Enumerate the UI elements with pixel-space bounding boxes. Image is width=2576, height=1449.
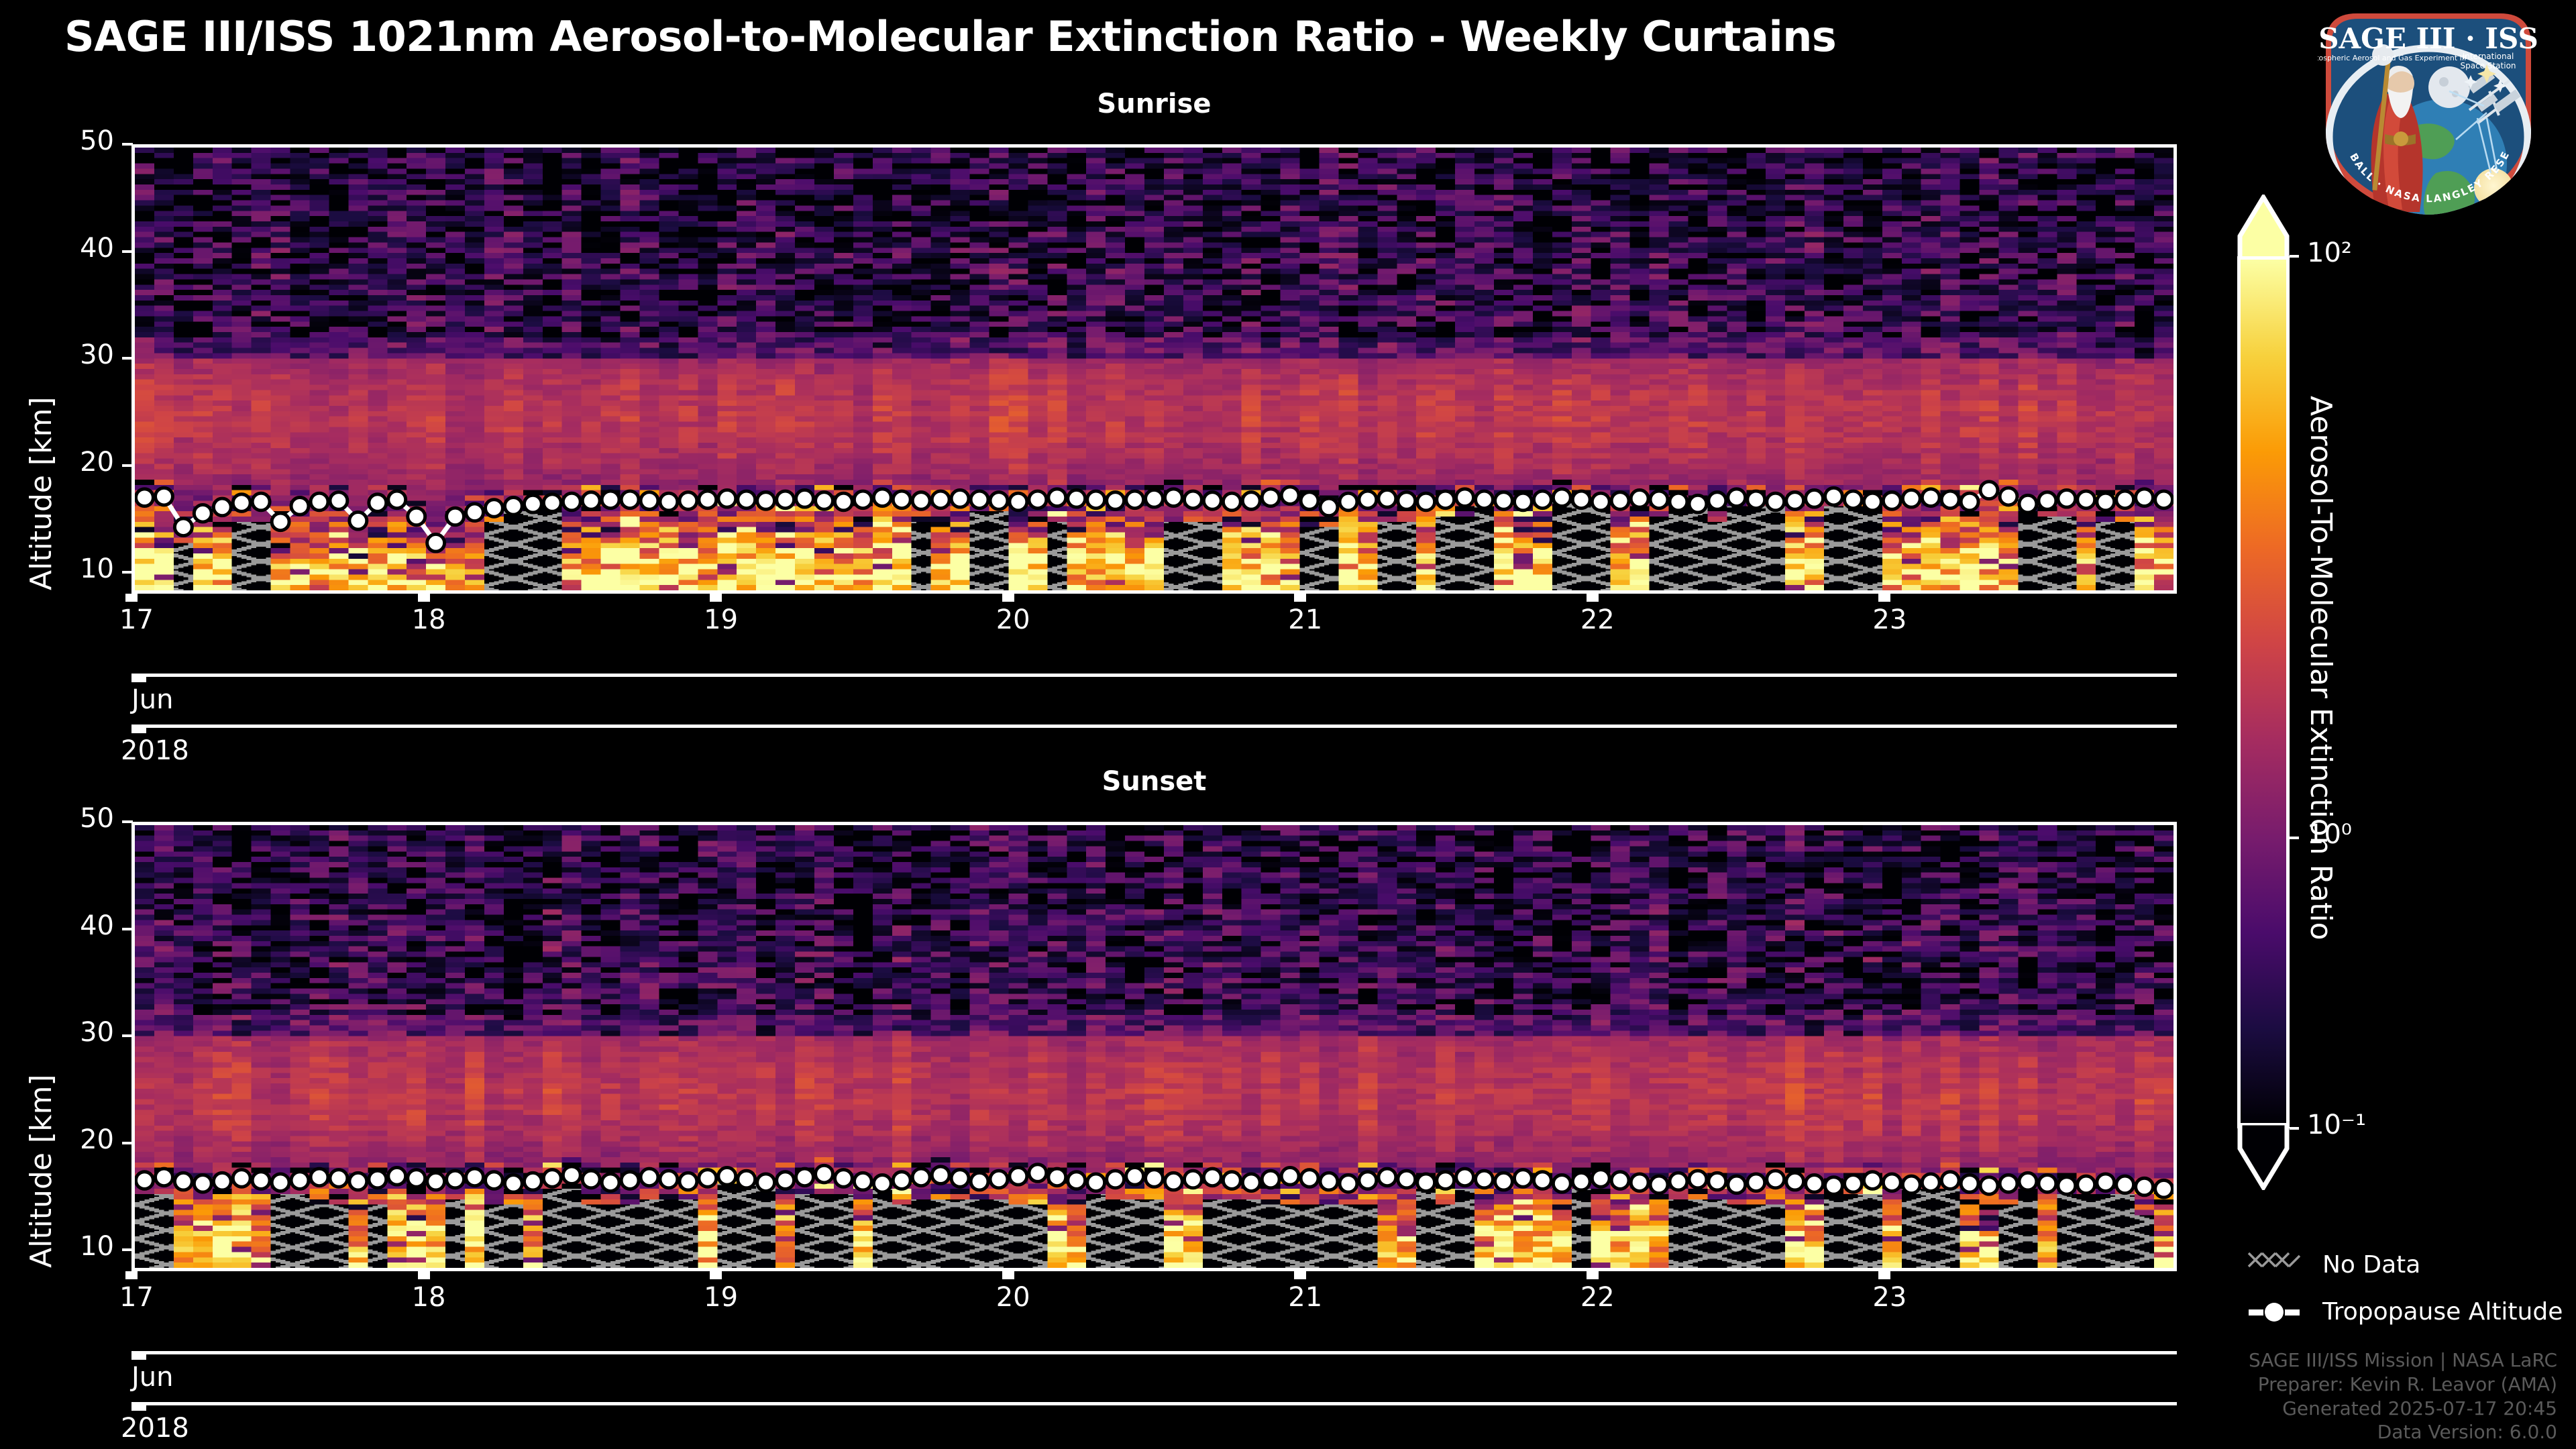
page-title: SAGE III/ISS 1021nm Aerosol-to-Molecular… xyxy=(64,12,1876,61)
x-tick-label-sunrise-2: 19 xyxy=(704,604,738,635)
x-tick-label-sunset-0: 17 xyxy=(119,1282,154,1313)
x-tick-mark-sunrise-0 xyxy=(125,594,138,602)
footer-line-generated: Generated 2025-07-17 20:45 xyxy=(2249,1397,2557,1421)
x-tick-label-sunset-5: 22 xyxy=(1580,1282,1615,1313)
x-tick-mark-sunrise-3 xyxy=(1002,594,1014,602)
x-axis-year-rule-sunset xyxy=(131,1402,2177,1405)
svg-text:Space Station: Space Station xyxy=(2460,61,2516,70)
x-tick-mark-sunset-3 xyxy=(1002,1271,1014,1279)
y-tick-label-sunrise-4: 50 xyxy=(40,125,114,156)
x-tick-mark-sunrise-5 xyxy=(1587,594,1599,602)
sage-iii-iss-mission-patch-logo: BALL · NASA LANGLEY RESEARCH CENTER · TA… xyxy=(2318,5,2539,219)
y-tick-label-sunrise-1: 20 xyxy=(40,447,114,478)
y-tick-label-sunrise-2: 30 xyxy=(40,339,114,370)
x-axis-year-label-sunset: 2018 xyxy=(121,1413,189,1444)
colorbar-extend-arrow-bottom xyxy=(2237,1123,2290,1190)
colorbar-tick-label-0: 10² xyxy=(2307,237,2352,268)
x-tick-label-sunset-2: 19 xyxy=(704,1282,738,1313)
legend-label-tropopause: Tropopause Altitude xyxy=(2322,1298,2563,1326)
svg-text:International: International xyxy=(2463,52,2514,61)
colorbar-tick-label-2: 10⁻¹ xyxy=(2307,1110,2366,1140)
colorbar-gradient-body xyxy=(2237,256,2290,1128)
colorbar-extend-arrow-top xyxy=(2237,195,2290,262)
colorbar: 10²10⁰10⁻¹ Aerosol-To-Molecular Extincti… xyxy=(2237,195,2290,1187)
y-tick-label-sunrise-0: 10 xyxy=(40,553,114,584)
x-axis-month-rule-sunrise xyxy=(131,674,2177,677)
x-tick-label-sunrise-3: 20 xyxy=(996,604,1030,635)
x-tick-label-sunset-4: 21 xyxy=(1288,1282,1322,1313)
x-tick-mark-sunrise-6 xyxy=(1878,594,1890,602)
heatmap-plot-sunset xyxy=(131,822,2177,1271)
legend-label-no-data: No Data xyxy=(2322,1251,2420,1279)
panel-sunrise: Sunrise Altitude [km] 1020304050 1718192… xyxy=(0,80,2187,751)
x-tick-mark-sunset-6 xyxy=(1878,1271,1890,1279)
x-tick-label-sunrise-0: 17 xyxy=(119,604,154,635)
x-tick-mark-sunset-1 xyxy=(418,1271,430,1279)
x-axis-month-label-sunset: Jun xyxy=(131,1362,174,1393)
svg-text:SAGE III · ISS: SAGE III · ISS xyxy=(2318,22,2538,55)
x-tick-mark-sunset-5 xyxy=(1587,1271,1599,1279)
x-axis-year-rule-tick-sunrise xyxy=(131,724,146,733)
x-axis-month-rule-tick-sunset xyxy=(131,1351,146,1360)
footer-line-data-version: Data Version: 6.0.0 xyxy=(2249,1420,2557,1444)
x-tick-label-sunset-1: 18 xyxy=(412,1282,446,1313)
y-tick-label-sunset-4: 50 xyxy=(40,803,114,834)
legend-item-tropopause: Tropopause Altitude xyxy=(2247,1298,2563,1326)
legend-item-no-data: No Data xyxy=(2247,1251,2420,1279)
colorbar-tick-mark-1 xyxy=(2290,837,2299,839)
x-axis-month-rule-sunset xyxy=(131,1351,2177,1354)
colorbar-tick-mark-0 xyxy=(2290,255,2299,258)
x-tick-mark-sunrise-4 xyxy=(1294,594,1306,602)
x-axis-year-rule-tick-sunset xyxy=(131,1402,146,1411)
x-tick-label-sunrise-5: 22 xyxy=(1580,604,1615,635)
footer-credits: SAGE III/ISS Mission | NASA LaRC Prepare… xyxy=(2249,1348,2557,1444)
x-axis-year-rule-sunrise xyxy=(131,724,2177,728)
x-tick-mark-sunrise-2 xyxy=(710,594,722,602)
x-tick-label-sunrise-6: 23 xyxy=(1872,604,1907,635)
footer-line-preparer: Preparer: Kevin R. Leavor (AMA) xyxy=(2249,1373,2557,1397)
colorbar-tick-mark-2 xyxy=(2290,1127,2299,1130)
y-tick-label-sunrise-3: 40 xyxy=(40,233,114,264)
x-tick-label-sunrise-4: 21 xyxy=(1288,604,1322,635)
x-axis-month-label-sunrise: Jun xyxy=(131,684,174,715)
x-tick-mark-sunset-0 xyxy=(125,1271,138,1279)
panel-title-sunrise: Sunrise xyxy=(131,89,2177,119)
panel-sunset: Sunset Altitude [km] 1020304050 17181920… xyxy=(0,758,2187,1429)
colorbar-gradient xyxy=(2241,260,2286,1125)
x-axis-month-rule-tick-sunrise xyxy=(131,674,146,682)
footer-line-mission: SAGE III/ISS Mission | NASA LaRC xyxy=(2249,1348,2557,1373)
y-tick-label-sunset-1: 20 xyxy=(40,1124,114,1155)
tropopause-line-dot-icon xyxy=(2247,1299,2305,1326)
tropopause-altitude-series-sunrise xyxy=(135,148,2173,590)
no-data-hatch-icon xyxy=(2247,1252,2305,1279)
svg-text:Stratospheric Aerosol and Gas: Stratospheric Aerosol and Gas Experiment… xyxy=(2318,54,2466,62)
x-tick-label-sunrise-1: 18 xyxy=(412,604,446,635)
colorbar-label: Aerosol-To-Molecular Extinction Ratio xyxy=(2304,396,2338,941)
x-tick-mark-sunrise-1 xyxy=(418,594,430,602)
y-tick-label-sunset-0: 10 xyxy=(40,1231,114,1262)
x-tick-label-sunset-6: 23 xyxy=(1872,1282,1907,1313)
x-tick-mark-sunset-4 xyxy=(1294,1271,1306,1279)
heatmap-plot-sunrise xyxy=(131,144,2177,594)
x-tick-mark-sunset-2 xyxy=(710,1271,722,1279)
x-tick-label-sunset-3: 20 xyxy=(996,1282,1030,1313)
panel-title-sunset: Sunset xyxy=(131,766,2177,797)
tropopause-altitude-series-sunset xyxy=(135,825,2173,1268)
figure-canvas: SAGE III/ISS 1021nm Aerosol-to-Molecular… xyxy=(0,0,2576,1449)
y-tick-label-sunset-3: 40 xyxy=(40,910,114,941)
y-tick-label-sunset-2: 30 xyxy=(40,1017,114,1048)
